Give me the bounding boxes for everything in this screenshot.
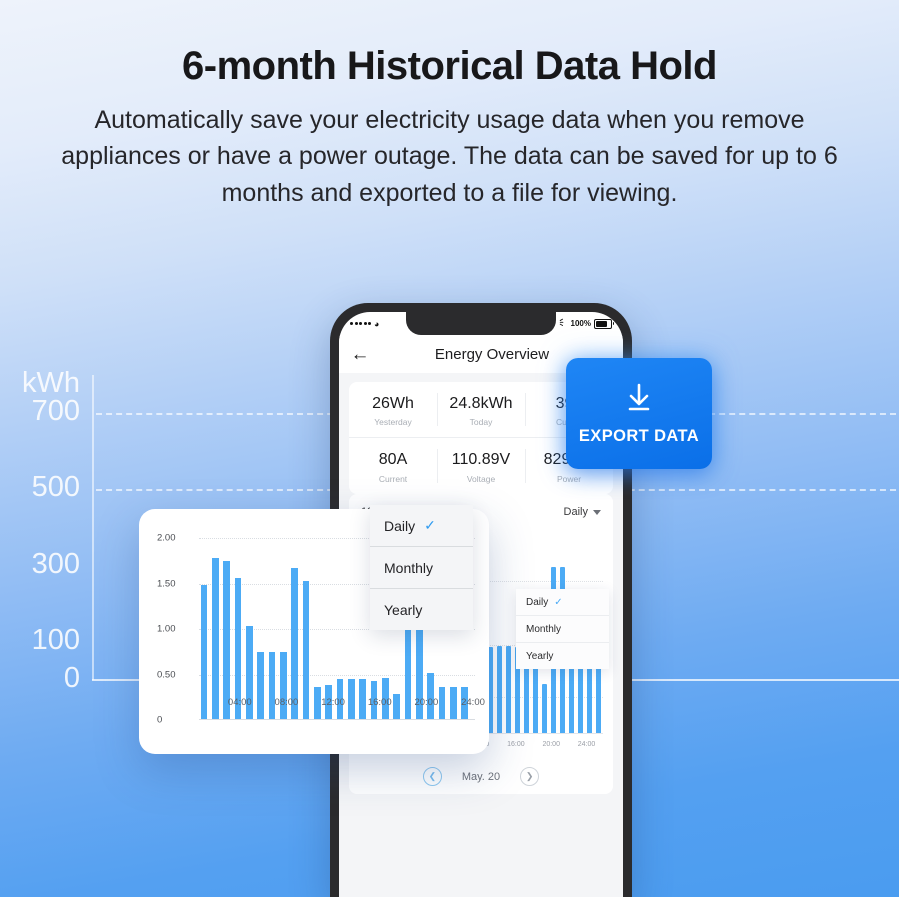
background-chart-unit-label: kWh <box>22 369 80 398</box>
floating-chart-y-tick: 2.00 <box>157 533 176 544</box>
phone-chart-bar <box>596 659 601 734</box>
floating-chart-x-label: 20:00 <box>414 697 438 708</box>
signal-dots-icon <box>350 322 371 325</box>
floating-chart-bar <box>405 621 412 720</box>
phone-chart-x-label: 24:00 <box>578 741 596 748</box>
dropdown-option-daily[interactable]: Daily ✓ <box>516 589 609 616</box>
floating-chart-bar <box>201 585 208 720</box>
floating-chart-bar <box>450 687 457 720</box>
dropdown-option-label: Yearly <box>526 651 553 662</box>
dropdown-option-label: Daily <box>526 597 548 608</box>
floating-chart-y-tick: 1.50 <box>157 578 176 589</box>
floating-chart-bar <box>393 694 400 720</box>
floating-chart-axis-line <box>199 719 475 721</box>
floating-chart-x-label: 12:00 <box>321 697 345 708</box>
floating-chart-bar <box>303 581 310 720</box>
stat-value: 110.89V <box>437 451 525 469</box>
download-icon <box>622 382 656 419</box>
floating-chart-x-label: 08:00 <box>275 697 299 708</box>
phone-chart-x-label: 16:00 <box>507 741 525 748</box>
stat-label: Current <box>349 474 437 484</box>
floating-chart-bar <box>348 679 355 720</box>
phone-chart-bar <box>578 661 583 734</box>
background-chart-y-tick: 300 <box>32 550 80 579</box>
floating-chart-x-label: 04:00 <box>228 697 252 708</box>
floating-chart-bar <box>212 558 219 720</box>
background-chart-y-tick: 500 <box>32 473 80 502</box>
stat-current: 80A Current <box>349 438 437 493</box>
phone-chart-bar <box>506 646 511 734</box>
dropdown-option-monthly[interactable]: Monthly <box>516 616 609 643</box>
page-title: 6-month Historical Data Hold <box>0 44 899 88</box>
stat-label: Yesterday <box>349 417 437 427</box>
stat-label: Today <box>437 417 525 427</box>
floating-chart-bar <box>269 652 276 720</box>
dropdown-option-label: Yearly <box>384 602 422 618</box>
phone-chart-x-label: 20:00 <box>542 741 560 748</box>
dropdown-option-daily[interactable]: Daily ✓ <box>370 505 473 547</box>
date-pager: ❮ May. 20 ❯ <box>349 767 613 786</box>
stat-voltage: 110.89V Voltage <box>437 438 525 493</box>
status-bar: ◕ 🗧 100% <box>339 312 623 335</box>
chevron-right-icon[interactable]: ❯ <box>520 767 539 786</box>
floating-chart-x-label: 24:00 <box>461 697 485 708</box>
range-selector-label: Daily <box>564 506 588 518</box>
floating-chart-bar <box>359 679 366 720</box>
stat-value: 80A <box>349 451 437 469</box>
chevron-left-icon[interactable]: ❮ <box>423 767 442 786</box>
dropdown-option-monthly[interactable]: Monthly <box>370 547 473 589</box>
stat-label: Power <box>525 474 613 484</box>
phone-range-dropdown[interactable]: Daily ✓ Monthly Yearly <box>516 589 609 669</box>
floating-chart-y-tick: 1.00 <box>157 624 176 635</box>
pager-date-label: May. 20 <box>462 771 500 783</box>
battery-icon <box>594 319 612 329</box>
bluetooth-icon: 🗧 <box>560 317 568 331</box>
dropdown-option-yearly[interactable]: Yearly <box>516 643 609 669</box>
hero-section: 6-month Historical Data Hold Automatical… <box>0 0 899 211</box>
floating-chart-x-label: 16:00 <box>368 697 392 708</box>
background-chart-y-tick: 700 <box>32 397 80 426</box>
floating-chart-bar <box>439 687 446 720</box>
phone-chart-bar <box>587 661 592 734</box>
floating-chart-y-tick: 0.50 <box>157 669 176 680</box>
dropdown-option-label: Daily <box>384 518 415 534</box>
background-chart-y-tick: 0 <box>64 664 80 693</box>
page-description: Automatically save your electricity usag… <box>55 102 845 211</box>
background-chart-y-tick: 100 <box>32 626 80 655</box>
dropdown-option-yearly[interactable]: Yearly <box>370 589 473 630</box>
battery-percent-label: 100% <box>571 319 591 328</box>
floating-chart-y-tick: 0 <box>157 715 162 726</box>
dropdown-option-label: Monthly <box>384 560 433 576</box>
floating-range-dropdown[interactable]: Daily ✓ Monthly Yearly <box>370 505 473 630</box>
check-icon: ✓ <box>554 597 562 608</box>
stat-value: 26Wh <box>349 395 437 413</box>
floating-chart-bar <box>280 652 287 720</box>
floating-chart-bar <box>257 652 264 720</box>
stat-today: 24.8kWh Today <box>437 382 525 437</box>
chevron-down-icon <box>593 510 601 515</box>
export-data-label: EXPORT DATA <box>579 427 699 446</box>
floating-chart-bar <box>314 687 321 720</box>
phone-chart-bar <box>542 684 547 734</box>
wifi-icon: ◕ <box>374 319 379 329</box>
check-icon: ✓ <box>424 517 436 534</box>
stat-yesterday: 26Wh Yesterday <box>349 382 437 437</box>
export-data-button[interactable]: EXPORT DATA <box>566 358 712 469</box>
dropdown-option-label: Monthly <box>526 624 561 635</box>
stat-value: 24.8kWh <box>437 395 525 413</box>
stat-label: Voltage <box>437 474 525 484</box>
range-selector[interactable]: Daily <box>564 506 601 518</box>
phone-chart-bar <box>497 646 502 734</box>
